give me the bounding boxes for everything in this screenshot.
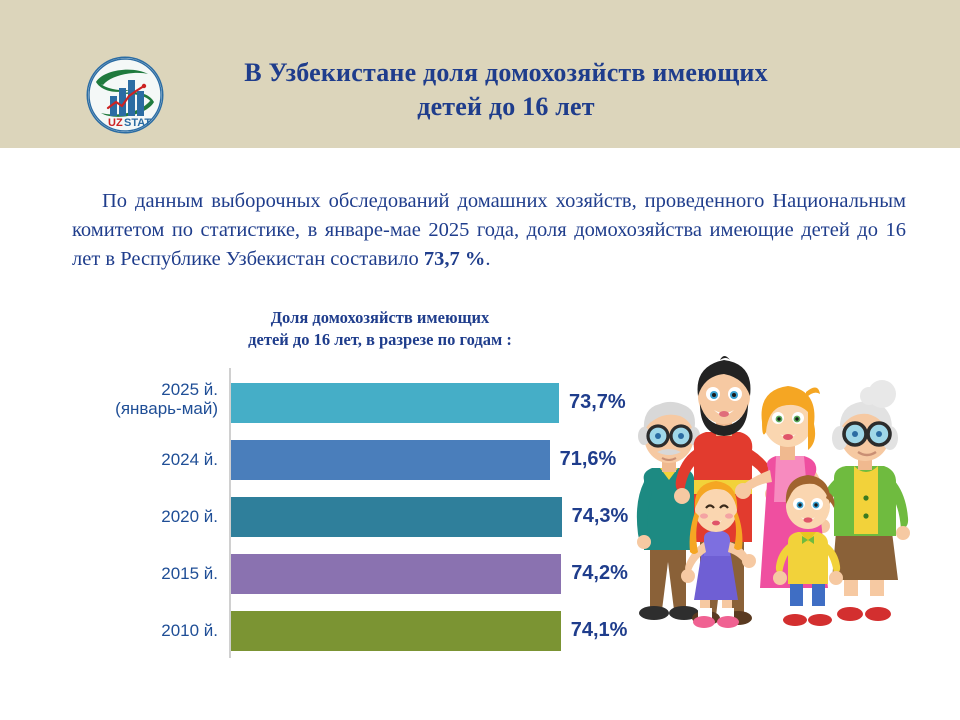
intro-highlight-value: 73,7 %	[424, 248, 486, 270]
bar-value-2024: 71,6%	[560, 448, 617, 471]
logo-stat-text: STAT	[124, 117, 151, 129]
bar-row: 2020 й. 74,3%	[70, 497, 610, 537]
family-illustration	[628, 352, 920, 652]
bar-category-label: 2020 й.	[68, 507, 218, 526]
bar-value-2020: 74,3%	[572, 505, 629, 528]
uzstat-logo-graphic: UZ STAT	[88, 58, 162, 132]
chart-title-line1: Доля домохозяйств имеющих	[271, 308, 490, 327]
bar-2025	[231, 383, 559, 423]
logo-uz-text: UZ	[108, 117, 123, 129]
chart-title-line2: детей до 16 лет, в разрезе по годам :	[248, 330, 512, 349]
bar-value-2010: 74,1%	[571, 619, 628, 642]
bar-category-label-line1: 2025 й.	[161, 380, 218, 399]
page-title-line2: детей до 16 лет	[417, 92, 595, 121]
bar-category-label: 2024 й.	[68, 450, 218, 469]
header-band: UZ STAT В Узбекистане доля домохозяйств …	[0, 0, 960, 148]
bar-chart: 2025 й. (январь-май) 73,7% 2024 й. 71,6%…	[70, 368, 610, 658]
bar-category-label: 2025 й. (январь-май)	[68, 380, 218, 418]
cartoon-family-graphic	[628, 352, 920, 652]
bar-value-2015: 74,2%	[571, 562, 628, 585]
bar-row: 2024 й. 71,6%	[70, 440, 610, 480]
page-title: В Узбекистане доля домохозяйств имеющих …	[176, 56, 836, 124]
bar-2010	[231, 611, 561, 651]
chart-title: Доля домохозяйств имеющих детей до 16 ле…	[180, 307, 580, 351]
bar-category-label: 2010 й.	[68, 621, 218, 640]
intro-paragraph: По данным выборочных обследований домашн…	[72, 187, 906, 274]
bar-value-2025: 73,7%	[569, 391, 626, 414]
bar-category-label: 2015 й.	[68, 564, 218, 583]
uzstat-logo: UZ STAT	[88, 58, 162, 132]
intro-text-after: .	[485, 248, 490, 270]
bar-row: 2015 й. 74,2%	[70, 554, 610, 594]
bar-2015	[231, 554, 561, 594]
bar-row: 2025 й. (январь-май) 73,7%	[70, 383, 610, 423]
bar-row: 2010 й. 74,1%	[70, 611, 610, 651]
bar-category-label-line2: (январь-май)	[115, 399, 218, 418]
page-title-line1: В Узбекистане доля домохозяйств имеющих	[244, 58, 768, 87]
bar-2024	[231, 440, 550, 480]
bar-2020	[231, 497, 562, 537]
